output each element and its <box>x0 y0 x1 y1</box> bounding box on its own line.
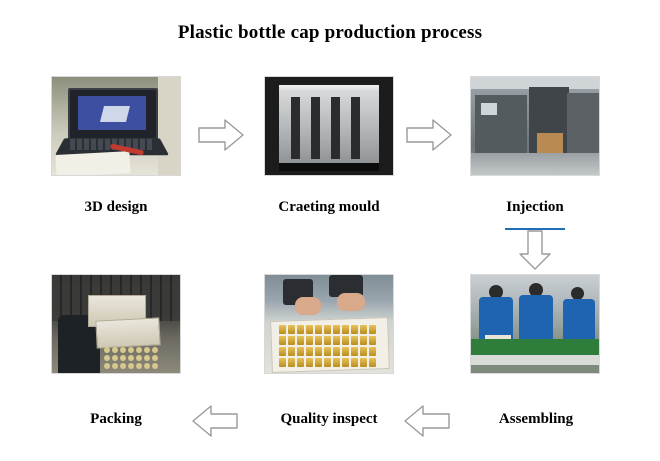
photo-injection <box>470 76 600 176</box>
caption-quality-inspect: Quality inspect <box>250 411 408 428</box>
photo-quality-inspect-art <box>265 275 393 373</box>
photo-injection-art <box>471 77 599 175</box>
arrow-quality-to-packing <box>192 404 238 438</box>
caption-creating-mould: Craeting mould <box>254 199 404 216</box>
photo-packing-art <box>52 275 180 373</box>
arrow-assembly-to-quality <box>404 404 450 438</box>
caption-assembling: Assembling <box>466 411 606 428</box>
caption-packing: Packing <box>51 411 181 428</box>
photo-quality-inspect <box>264 274 394 374</box>
photo-creating-mould-art <box>265 77 393 175</box>
photo-creating-mould <box>264 76 394 176</box>
caption-injection: Injection <box>470 199 600 216</box>
photo-assembling <box>470 274 600 374</box>
photo-assembling-art <box>471 275 599 373</box>
photo-packing <box>51 274 181 374</box>
caption-3d-design: 3D design <box>51 199 181 216</box>
photo-3d-design <box>51 76 181 176</box>
arrow-design-to-mould <box>198 118 244 152</box>
arrow-mould-to-injection <box>406 118 452 152</box>
arrow-injection-to-assembly <box>518 230 552 270</box>
page-title: Plastic bottle cap production process <box>0 22 660 44</box>
photo-3d-design-art <box>52 77 180 175</box>
